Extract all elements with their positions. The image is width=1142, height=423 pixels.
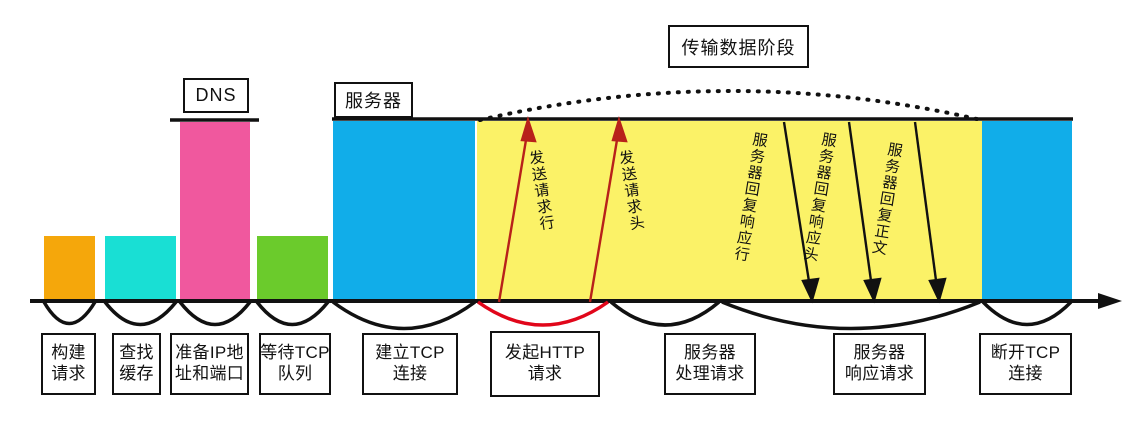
step-line: 服务器: [684, 343, 736, 364]
arrow-send-request-head: [590, 120, 626, 302]
segment-arc-dns-resolve: [180, 302, 250, 325]
segment-arc-server-process: [611, 302, 719, 325]
step-box-server-process: 服务器 处理请求: [664, 333, 756, 395]
transfer-phase-dotted-arc: [480, 91, 981, 120]
segment-arc-tcp-connect: [333, 302, 475, 329]
step-line: 等待TCP: [260, 343, 330, 364]
arrow-response-line: [784, 122, 818, 300]
step-line: 响应请求: [845, 364, 914, 385]
step-line: 查找: [119, 343, 154, 364]
timeline-diagram: 发送请求行 发送请求头 服务器回复响应行 服务器回复响应头 服务器回复正文: [0, 0, 1142, 423]
step-line: 址和端口: [175, 364, 244, 385]
segment-arc-server-respond: [722, 302, 980, 329]
segment-arc-build-request: [44, 302, 95, 324]
step-box-http-request: 发起HTTP 请求: [490, 331, 600, 397]
step-box-server-respond: 服务器 响应请求: [833, 333, 926, 395]
arrow-send-request-line: [499, 120, 535, 302]
step-line: 请求: [528, 364, 563, 385]
step-line: 缓存: [119, 364, 154, 385]
step-line: 构建: [51, 343, 86, 364]
time-axis-arrowhead: [1098, 293, 1122, 309]
top-label-dns: DNS: [183, 78, 249, 113]
segment-arc-wait-tcp-queue: [257, 302, 328, 325]
step-box-tcp-connect: 建立TCP 连接: [362, 333, 458, 395]
step-line: 建立TCP: [375, 343, 445, 364]
step-line: 处理请求: [675, 364, 744, 385]
arrow-response-head: [849, 122, 880, 300]
top-label-transfer-phase: 传输数据阶段: [668, 25, 809, 68]
step-box-prepare-ip-port: 准备IP地 址和端口: [170, 333, 249, 395]
arrow-response-body: [915, 122, 945, 300]
segment-arc-lookup-cache: [105, 302, 176, 325]
step-box-lookup-cache: 查找 缓存: [112, 333, 161, 395]
step-line: 连接: [1008, 364, 1043, 385]
segment-arc-tcp-close: [983, 302, 1071, 325]
step-line: 准备IP地: [175, 343, 244, 364]
step-box-build-request: 构建 请求: [41, 333, 96, 395]
step-line: 队列: [278, 364, 313, 385]
step-box-wait-tcp-queue: 等待TCP 队列: [259, 333, 331, 395]
step-line: 服务器: [854, 343, 906, 364]
step-line: 请求: [51, 364, 86, 385]
step-box-tcp-close: 断开TCP 连接: [979, 333, 1072, 395]
step-line: 断开TCP: [991, 343, 1061, 364]
step-line: 连接: [393, 364, 428, 385]
segment-arc-http-request: [478, 302, 608, 325]
top-label-server: 服务器: [334, 82, 413, 118]
step-line: 发起HTTP: [505, 343, 585, 364]
